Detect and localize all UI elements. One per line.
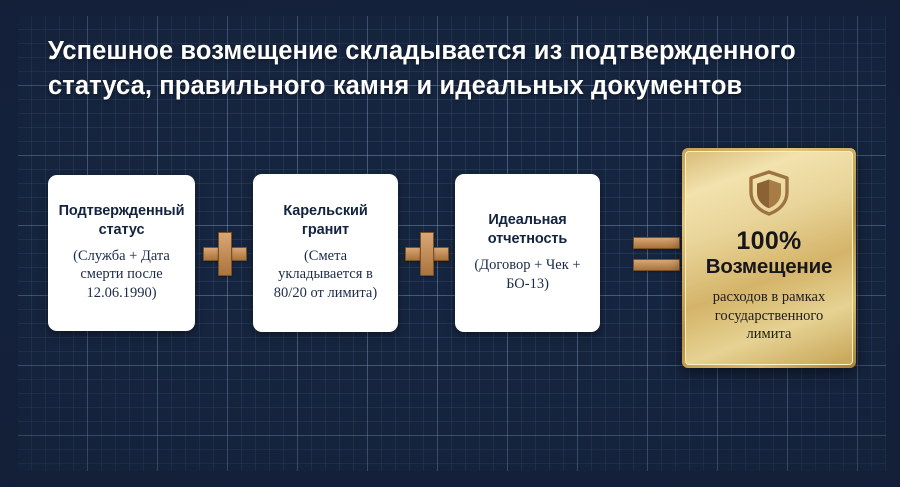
equals-icon <box>633 237 680 271</box>
plus-icon <box>405 232 449 276</box>
shield-icon <box>748 170 790 216</box>
plus-icon-vertical-bar <box>420 232 434 276</box>
factor-card-subtitle: (Смета укладывается в 80/20 от лимита) <box>263 247 388 302</box>
factor-card-subtitle: (Служба + Дата смерти после 12.06.1990) <box>58 247 185 302</box>
factor-card-title: Идеальная отчетность <box>465 211 590 248</box>
factor-card-subtitle: (Договор + Чек + БО-13) <box>465 256 590 293</box>
equals-icon-top-bar <box>633 237 680 249</box>
factor-card-title: Подтвержденный статус <box>58 202 185 239</box>
result-percent: 100% <box>736 228 801 254</box>
result-card-inner: 100% Возмещение расходов в рамках госуда… <box>685 151 853 365</box>
plus-icon <box>203 232 247 276</box>
result-card-gold[interactable]: 100% Возмещение расходов в рамках госуда… <box>682 148 856 368</box>
factor-card-reporting[interactable]: Идеальная отчетность (Договор + Чек + БО… <box>455 174 600 332</box>
result-note: расходов в рамках государственного лимит… <box>686 288 852 343</box>
slide-canvas: Успешное возмещение складывается из подт… <box>0 0 900 487</box>
factor-card-status[interactable]: Подтвержденный статус (Служба + Дата сме… <box>48 175 195 331</box>
equals-icon-bottom-bar <box>633 259 680 271</box>
factor-card-granite[interactable]: Карельский гранит (Смета укладывается в … <box>253 174 398 332</box>
formula-row: Подтвержденный статус (Служба + Дата сме… <box>0 140 900 375</box>
result-word: Возмещение <box>706 255 832 279</box>
factor-card-title: Карельский гранит <box>263 202 388 239</box>
page-title: Успешное возмещение складывается из подт… <box>48 34 848 104</box>
plus-icon-vertical-bar <box>218 232 232 276</box>
